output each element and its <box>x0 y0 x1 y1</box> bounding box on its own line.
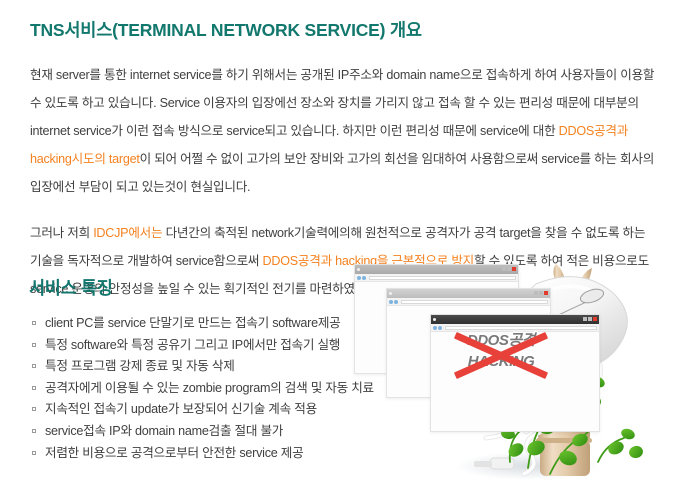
page-title: TNS서비스(TERMINAL NETWORK SERVICE) 개요 <box>30 17 422 42</box>
square-bullet-icon <box>32 321 36 325</box>
slide-page: TNS서비스(TERMINAL NETWORK SERVICE) 개요 현재 s… <box>0 0 680 500</box>
window-toolbar <box>431 324 599 332</box>
intro-paragraph-2: 그러나 저희 IDCJP에서는 다년간의 축적된 network기술력에의해 원… <box>30 219 656 303</box>
feature-item-label: 특정 프로그램 강제 종료 및 자동 삭제 <box>45 359 235 373</box>
intro-text-block: 현재 server를 통한 internet service를 하기 위해서는 … <box>30 61 656 303</box>
square-bullet-icon <box>32 364 36 368</box>
square-bullet-icon <box>32 429 36 433</box>
window-content <box>431 332 599 431</box>
red-cross-icon <box>448 330 554 378</box>
maximize-icon <box>588 317 592 321</box>
features-title: 서비스 특징 <box>29 275 113 300</box>
feature-item-label: 특정 software와 특정 공유기 그리고 IP에서만 접속기 실행 <box>45 338 340 352</box>
feature-item-label: 공격자에게 이용될 수 있는 zombie program의 검색 및 자동 치… <box>45 381 374 395</box>
square-bullet-icon <box>32 451 36 455</box>
window-titlebar <box>431 315 599 324</box>
highlighted-text: IDCJP에서는 <box>93 226 162 240</box>
feature-item: 공격자에게 이용될 수 있는 zombie program의 검색 및 자동 치… <box>31 378 451 400</box>
blocked-attack-stamp: DDOS공격 HACKING <box>448 330 554 392</box>
address-bar <box>445 326 597 330</box>
attack-label-hacking: HACKING <box>468 353 535 370</box>
feature-item: 저렴한 비용으로 공격으로부터 안전한 service 제공 <box>31 443 451 465</box>
square-bullet-icon <box>32 343 36 347</box>
feature-item: service접속 IP와 domain name검출 절대 불가 <box>31 421 451 443</box>
attack-labels: DDOS공격 HACKING <box>448 330 554 372</box>
feature-item: 특정 프로그램 강제 종료 및 자동 삭제 <box>31 356 451 378</box>
features-list: client PC를 service 단말기로 만드는 접속기 software… <box>31 313 451 464</box>
usb-plug <box>474 458 514 469</box>
feature-item-label: client PC를 service 단말기로 만드는 접속기 software… <box>45 316 341 330</box>
vine-plants <box>492 339 644 474</box>
square-bullet-icon <box>32 386 36 390</box>
highlighted-text: DDOS공격과 hacking을 근본적으로 방지 <box>263 254 475 268</box>
feature-item: 지속적인 접속기 update가 보장되어 신기술 계속 적용 <box>31 399 451 421</box>
square-bullet-icon <box>32 407 36 411</box>
browser-window-front <box>430 314 600 432</box>
minimize-icon <box>583 317 587 321</box>
feature-item-label: service접속 IP와 domain name검출 절대 불가 <box>45 424 283 438</box>
attack-label-ddos: DDOS공격 <box>467 332 535 349</box>
close-icon <box>593 317 597 321</box>
feature-item: client PC를 service 단말기로 만드는 접속기 software… <box>31 313 451 335</box>
feature-item: 특정 software와 특정 공유기 그리고 IP에서만 접속기 실행 <box>31 335 451 357</box>
mouse-cable <box>486 346 601 474</box>
body-text: 그러나 저희 <box>30 226 93 240</box>
intro-paragraph-1: 현재 server를 통한 internet service를 하기 위해서는 … <box>30 61 656 201</box>
feature-item-label: 저렴한 비용으로 공격으로부터 안전한 service 제공 <box>45 446 303 460</box>
window-controls <box>583 317 597 321</box>
feature-item-label: 지속적인 접속기 update가 보장되어 신기술 계속 적용 <box>45 402 317 416</box>
